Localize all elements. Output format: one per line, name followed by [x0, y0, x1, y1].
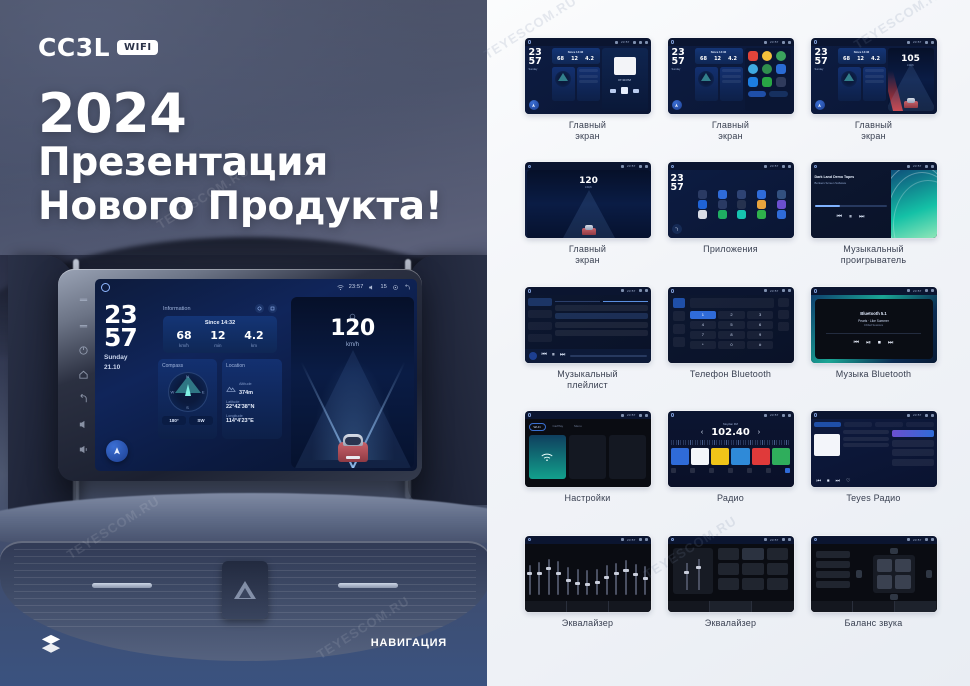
player-artist: Bonkers Screen Software [815, 181, 887, 185]
app-icon[interactable] [752, 200, 771, 209]
eq-bottom-tabs[interactable] [668, 601, 794, 612]
prev-icon[interactable]: ⏮ [854, 340, 859, 347]
compass-dial: N S W E [168, 372, 208, 412]
altitude-row: Altitude 374m [226, 372, 278, 396]
layers-icon [40, 633, 62, 653]
eq-slider[interactable] [596, 569, 598, 595]
eq-slider[interactable] [635, 564, 637, 595]
tile-caption: Телефон Bluetooth [690, 369, 771, 380]
trip-stat: 4.2 km [244, 330, 264, 348]
app-icon[interactable] [772, 200, 791, 209]
eq-tab[interactable] [895, 601, 936, 612]
trip-stat-value: 4.2 [244, 330, 264, 341]
radio-preset[interactable] [772, 448, 790, 465]
trip-since: Since 14:32 [167, 320, 273, 326]
tile-caption: Главный экран [569, 244, 606, 266]
eq-tab[interactable] [853, 601, 895, 612]
mini-home-screen: 23 57 Sunday Since 14:32 68124.2 [525, 46, 651, 114]
eq-preset[interactable] [767, 548, 789, 560]
eq-tab[interactable] [811, 601, 853, 612]
speed-value: 120 [291, 318, 414, 340]
eq-slider[interactable] [644, 566, 646, 595]
mini-stat: 4.2 [871, 56, 880, 62]
tile-preview[interactable]: 23:57 23 57 Sunday Since 14:32 68124.2 [525, 162, 651, 238]
head-unit-hardware-keys[interactable] [70, 289, 96, 461]
hazard-light-button[interactable] [222, 561, 268, 619]
mini-clock-day: Sunday [529, 68, 550, 71]
stop-icon[interactable]: ⏹ [878, 340, 881, 347]
playlist-row[interactable] [555, 305, 648, 311]
navigation-fab-button[interactable] [106, 440, 128, 462]
tile-caption: Главный экран [569, 120, 606, 142]
mini-settings-screen: Wi-Fi CarPlay Menu [525, 419, 651, 487]
eq-preset[interactable] [767, 563, 789, 575]
clock-date: 21.10 [104, 364, 160, 373]
tile-caption: Главный экран [855, 120, 892, 142]
compass-south: S [186, 405, 189, 410]
tile-teyes-radio[interactable]: 23:57 [807, 411, 940, 535]
vent-chrome-left [92, 583, 152, 588]
play-pause-icon[interactable]: ⏯ [866, 340, 871, 347]
mini-teyes-radio-screen: ⏮ ⏹ ⏭ ♡ [811, 419, 937, 487]
station-row[interactable] [892, 459, 934, 466]
power-key[interactable] [78, 345, 89, 356]
favorite-icon[interactable]: ♡ [846, 478, 850, 484]
navigation-arrow-icon [112, 446, 122, 456]
app-icon[interactable] [694, 200, 713, 209]
eq-preset[interactable] [742, 578, 764, 590]
logo-wifi-badge: WIFI [117, 40, 158, 55]
speaker-icon [877, 575, 893, 589]
compass-north: N [186, 374, 189, 379]
app-icon[interactable] [733, 190, 752, 199]
eq-bottom-tabs[interactable] [525, 601, 651, 612]
mini-home-screen: 23 57 Sunday Since 14:32 68124.2 [811, 46, 937, 114]
eq-slider[interactable] [557, 561, 559, 595]
eq-tab[interactable] [668, 601, 710, 612]
tile-caption: Эквалайзер [705, 618, 756, 629]
stop-icon[interactable]: ⏹ [827, 478, 830, 484]
dial-key[interactable]: # [747, 341, 774, 349]
prev-icon[interactable]: ⏮ [817, 478, 822, 484]
mini-dialer-screen: 1 2 3 4 5 6 7 8 9 * 0 # [668, 295, 794, 363]
balance-left-button[interactable] [856, 570, 862, 578]
eq-slider[interactable] [538, 562, 540, 595]
tile-caption: Эквалайзер [562, 618, 613, 629]
tile-sound-balance[interactable]: 23:57 [807, 536, 940, 660]
balance-option[interactable] [816, 551, 850, 558]
mini-compass-card [552, 67, 575, 101]
mini-stat: 12 [571, 56, 578, 62]
tile-caption: Музыка Bluetooth [836, 369, 912, 380]
settings-card-carplay[interactable] [569, 435, 606, 479]
hero-footer: НАВИГАЦИЯ [0, 630, 487, 656]
location-title: Location [226, 363, 278, 369]
settings-tab[interactable]: CarPlay [549, 423, 568, 431]
mini-clock-minutes: 57 [671, 183, 692, 192]
mini-stat: 68 [843, 56, 850, 62]
mini-speed-unit: km/h [527, 186, 651, 189]
refresh-icon[interactable] [255, 304, 264, 313]
tile-status-bar: 23:57 [525, 38, 651, 46]
trip-stat-value: 12 [210, 330, 225, 341]
tile-home-screen-apps[interactable]: 23:57 23 57 Sunday Since 14:32 68124.2 [664, 38, 797, 162]
playlist-player-bar[interactable]: ⏮ ⏸ ⏭ [525, 349, 651, 363]
eq-preset[interactable] [718, 548, 740, 560]
compass-title: Compass [162, 363, 213, 369]
tile-home-screen-speed[interactable]: 23:57 23 57 Sunday Since 14:32 68124.2 [807, 38, 940, 162]
eq-slider[interactable] [567, 567, 569, 595]
station-row[interactable] [892, 430, 934, 437]
mini-shortcut-panel [745, 48, 791, 111]
volume-icon [368, 284, 375, 291]
radio-preset[interactable] [752, 448, 770, 465]
expand-icon[interactable] [268, 304, 277, 313]
eq-slider[interactable] [529, 565, 531, 594]
clock-day: Sunday [104, 354, 160, 363]
radio-frequency: 102.40 [711, 427, 750, 438]
vent-chrome-right [338, 583, 398, 588]
tile-caption: Главный экран [712, 120, 749, 142]
tile-equalizer-bars[interactable]: 23:57 [521, 536, 654, 660]
mini-speed-value: 120 [579, 176, 598, 186]
eq-slider[interactable] [577, 569, 579, 594]
radio-band: Moydan FM [671, 422, 791, 426]
eq-preset[interactable] [718, 578, 740, 590]
dial-key[interactable]: 0 [718, 341, 745, 349]
settings-tab[interactable]: Menu [570, 423, 586, 431]
mini-speed: 105km/h [888, 54, 934, 67]
tile-home-screen-nav[interactable]: 23:57 23 57 Sunday Since 14:32 68124.2 [521, 162, 654, 286]
compass-east: E [202, 390, 205, 395]
trip-stat: 12 min [210, 330, 225, 348]
trip-stat-unit: km [244, 343, 264, 348]
dial-key[interactable]: 3 [747, 311, 774, 319]
eq-slider[interactable] [625, 560, 627, 594]
headline-line-1: Презентация [38, 141, 442, 185]
tile-preview[interactable]: 23:57 [668, 536, 794, 612]
status-bar: 23:57 15 [95, 279, 417, 295]
tile-home-screen-media[interactable]: 23:57 23 57 Sunday Since 14:32 6812 [521, 38, 654, 162]
pause-icon[interactable]: ⏸ [849, 214, 852, 221]
tile-equalizer-presets[interactable]: 23:57 [664, 536, 797, 660]
balance-down-button[interactable] [890, 594, 898, 600]
home-circle-icon[interactable] [101, 283, 110, 292]
balance-option[interactable] [816, 581, 850, 588]
teyes-tab[interactable] [814, 422, 842, 427]
information-title: Information [163, 306, 191, 312]
eq-tab[interactable] [525, 601, 567, 612]
volume-down-key[interactable] [78, 419, 89, 430]
mini-stat: 4.2 [585, 56, 594, 62]
dial-key[interactable]: 7 [690, 331, 717, 339]
mini-since: Since 14:32 [554, 50, 598, 54]
playlist-nav-item[interactable] [528, 298, 552, 306]
prev-track-key[interactable] [78, 295, 89, 306]
mini-info-column: Since 14:32 68124.2 [552, 48, 600, 111]
speed-limit-icon [349, 307, 356, 314]
balance-right-button[interactable] [926, 570, 932, 578]
compass-heading: 180° [162, 416, 186, 425]
app-icon[interactable] [694, 190, 713, 199]
eq-tab[interactable] [609, 601, 650, 612]
home-circle-icon [528, 40, 532, 44]
compass-widget[interactable]: Compass N S W E [158, 359, 217, 439]
next-icon[interactable]: ⏭ [888, 340, 893, 347]
compass-direction: SW [189, 416, 213, 425]
radio-prev-icon[interactable]: ‹ [701, 429, 703, 436]
tile-caption: Настройки [565, 493, 611, 504]
app-icon[interactable] [733, 210, 752, 219]
dial-key[interactable]: 2 [718, 311, 745, 319]
headline-year: 2024 [38, 86, 442, 141]
app-icon[interactable] [713, 190, 732, 199]
dialer-nav-recents[interactable] [673, 337, 685, 347]
player-track-title: Dark Land Demo Tapes [815, 175, 887, 179]
teyes-tab[interactable] [906, 422, 934, 427]
screen-body: 23 57 Sunday 21.10 Information [95, 295, 417, 471]
app-icon[interactable] [752, 190, 771, 199]
head-unit-screen[interactable]: 23:57 15 23 57 Sunday [95, 279, 417, 471]
mountain-icon [226, 380, 236, 389]
radio-preset[interactable] [691, 448, 709, 465]
dial-key[interactable]: 1 [690, 311, 717, 319]
eq-slider[interactable] [548, 559, 550, 594]
mini-media-panel: 07:30 PM [602, 48, 648, 111]
speed-unit: km/h [291, 342, 414, 348]
playlist-row[interactable] [555, 322, 648, 328]
settings-tab[interactable]: Wi-Fi [529, 423, 546, 431]
speaker-icon [877, 559, 893, 573]
presentation-slide: CC3L WIFI 2024 Презентация Нового Продук… [0, 0, 970, 686]
eq-tab[interactable] [710, 601, 752, 612]
next-track-key[interactable] [78, 320, 89, 331]
mini-location-card [577, 67, 600, 101]
eq-slider[interactable] [606, 565, 608, 594]
back-arrow-icon[interactable] [404, 284, 411, 291]
mini-since: Since 14:32 [840, 50, 884, 54]
tile-music-playlist[interactable]: 23:57 [521, 287, 654, 411]
tile-bluetooth-music[interactable]: 23:57 Bluetooth 5.1 Pearls · Like Summer… [807, 287, 940, 411]
app-icon[interactable] [752, 210, 771, 219]
mini-driving-panel: 105km/h [888, 48, 934, 111]
mini-stat: 12 [714, 56, 721, 62]
mini-clock: 23 57 Sunday [529, 48, 550, 111]
eq-preset[interactable] [742, 563, 764, 575]
altitude-value: 374m [239, 390, 253, 396]
station-row[interactable] [892, 440, 934, 447]
station-row[interactable] [892, 449, 934, 456]
tile-preview[interactable]: 23:57 23 57 [668, 162, 794, 238]
tile-preview[interactable]: 23:57 1 2 3 [668, 287, 794, 363]
tile-preview[interactable]: 23:57 23 57 Sunday Since 14:32 6812 [525, 38, 651, 114]
status-volume: 15 [380, 284, 387, 290]
clock-widget[interactable]: 23 57 Sunday 21.10 [104, 303, 160, 373]
dialer-nav-search[interactable] [673, 324, 685, 334]
tile-preview[interactable]: 23:57 Wi-Fi CarPlay Menu [525, 411, 651, 487]
eq-preset[interactable] [718, 563, 740, 575]
app-icon[interactable] [733, 200, 752, 209]
back-key[interactable] [78, 394, 89, 405]
mini-home-screen: 23 57 Sunday Since 14:32 68124.2 [525, 170, 651, 238]
mini-clock-minutes: 57 [815, 57, 836, 66]
tile-preview[interactable]: 23:57 [811, 536, 937, 612]
altitude-label: Altitude [239, 382, 252, 386]
mini-stat: 68 [700, 56, 707, 62]
car-dashboard-illustration: 23:57 15 23 57 Sunday [0, 255, 487, 686]
mini-radio-screen: Moydan FM ‹ 102.40 › [668, 419, 794, 487]
next-icon[interactable]: ⏭ [836, 478, 841, 484]
clock-minutes: 57 [104, 326, 160, 349]
app-icon[interactable] [772, 190, 791, 199]
screenshots-grid: 23:57 23 57 Sunday Since 14:32 6812 [521, 38, 940, 660]
head-unit-bezel: 23:57 15 23 57 Sunday [58, 269, 422, 481]
eq-slider[interactable] [586, 570, 588, 594]
balance-option[interactable] [816, 561, 850, 568]
tile-preview[interactable]: 23:57 Dark Land Demo Tapes Bonkers Scree… [811, 162, 937, 238]
teyes-tab[interactable] [875, 422, 903, 427]
screen-left-column: 23 57 Sunday 21.10 Information [95, 295, 291, 471]
radio-preset[interactable] [711, 448, 729, 465]
playlist-nav-item[interactable] [528, 334, 552, 342]
tile-caption: Teyes Радио [846, 493, 900, 504]
volume-up-key[interactable] [78, 444, 89, 455]
settings-card-wifi[interactable] [529, 435, 566, 479]
information-title-row: Information [163, 304, 277, 313]
mini-speed: 120km/h [527, 176, 651, 189]
longitude-value: 114°4'23"E [226, 418, 278, 424]
mini-bt-music-screen: Bluetooth 5.1 Pearls · Like Summer Chill… [811, 295, 937, 363]
tile-caption: Музыкальный плейлист [557, 369, 617, 391]
dial-key[interactable]: * [690, 341, 717, 349]
radio-next-icon[interactable]: › [758, 429, 760, 436]
mini-stat: 12 [857, 56, 864, 62]
eq-slider[interactable] [698, 559, 700, 589]
mini-clock-day: Sunday [815, 68, 836, 71]
mini-clock-minutes: 57 [672, 57, 693, 66]
eq-slider[interactable] [686, 563, 688, 590]
tile-radio[interactable]: 23:57 Moydan FM ‹ 102.40 › [664, 411, 797, 535]
location-widget[interactable]: Location Altitude 374m Latitude [222, 359, 282, 439]
app-icon[interactable] [713, 210, 732, 219]
trip-stats: 68 km/h 12 min 4.2 [167, 330, 273, 348]
trip-stat-value: 68 [176, 330, 191, 341]
tile-preview[interactable]: 23:57 23 57 Sunday Since 14:32 68124.2 [668, 38, 794, 114]
tile-preview[interactable]: 23:57 Moydan FM ‹ 102.40 › [668, 411, 794, 487]
bt-track-title: Pearls · Like Summer [858, 319, 889, 323]
eq-slider[interactable] [615, 563, 617, 595]
tile-caption: Радио [717, 493, 744, 504]
favorite-star-icon[interactable] [778, 298, 789, 307]
mini-clock-minutes: 57 [529, 57, 550, 66]
balance-option[interactable] [816, 571, 850, 578]
wifi-icon [337, 284, 344, 291]
dial-key[interactable]: 4 [690, 321, 717, 329]
dialer-nav-contacts[interactable] [673, 311, 685, 321]
tile-preview[interactable]: 23:57 [811, 411, 937, 487]
home-key[interactable] [78, 369, 89, 380]
mini-speed-unit: km/h [888, 64, 934, 67]
compass-needle [185, 384, 191, 396]
app-icon-grid[interactable] [692, 172, 791, 236]
bt-artist: Chilled Sessions [864, 324, 883, 327]
dial-key[interactable]: 8 [718, 331, 745, 339]
station-artwork [814, 434, 840, 456]
mini-player-screen: Dark Land Demo Tapes Bonkers Screen Soft… [811, 170, 937, 238]
app-icon[interactable] [772, 210, 791, 219]
bt-version-label: Bluetooth 5.1 [860, 311, 887, 316]
dialer-nav-keypad[interactable] [673, 298, 685, 308]
call-icon[interactable] [778, 322, 789, 331]
tile-caption: Музыкальный проигрыватель [841, 244, 906, 266]
speaker-icon [895, 575, 911, 589]
mini-driving-panel: 120km/h [527, 170, 651, 238]
settings-gear-icon[interactable] [392, 284, 399, 291]
tile-settings[interactable]: 23:57 Wi-Fi CarPlay Menu [521, 411, 654, 535]
next-icon[interactable]: ⏭ [859, 214, 864, 221]
tile-bluetooth-phone[interactable]: 23:57 1 2 3 [664, 287, 797, 411]
trip-panel: Since 14:32 68 km/h 12 min [163, 316, 277, 353]
tile-preview[interactable]: 23:57 23 57 Sunday Since 14:32 68124.2 [811, 38, 937, 114]
playlist-row[interactable] [555, 313, 648, 319]
wifi-icon [541, 453, 553, 462]
headline-line-2: Нового Продукта! [38, 185, 442, 229]
radio-preset[interactable] [731, 448, 749, 465]
tile-preview[interactable]: 23:57 [525, 287, 651, 363]
tile-caption: Баланс звука [845, 618, 903, 629]
speed-readout: 120 km/h [291, 307, 414, 348]
hero-panel: CC3L WIFI 2024 Презентация Нового Продук… [0, 0, 487, 686]
information-widget[interactable]: Information Since 14:32 [158, 300, 282, 358]
playlist-nav-item[interactable] [528, 310, 552, 318]
app-icon[interactable] [694, 210, 713, 219]
mini-home-screen: 23 57 Sunday Since 14:32 68124.2 [668, 46, 794, 114]
balance-up-button[interactable] [890, 548, 898, 554]
playlist-nav-item[interactable] [528, 322, 552, 330]
settings-card-menu[interactable] [609, 435, 646, 479]
eq-preset[interactable] [742, 548, 764, 560]
tile-preview[interactable]: 23:57 Bluetooth 5.1 Pearls · Like Summer… [811, 287, 937, 363]
mini-nav-fab [529, 100, 539, 110]
radio-preset[interactable] [671, 448, 689, 465]
app-icon[interactable] [713, 200, 732, 209]
speaker-icon [895, 559, 911, 573]
backspace-icon[interactable] [778, 310, 789, 319]
dial-key[interactable]: 5 [718, 321, 745, 329]
bottom-widgets: Compass N S W E [158, 359, 282, 439]
eq-tab[interactable] [567, 601, 609, 612]
product-logo: CC3L WIFI [38, 33, 158, 62]
eq-tab[interactable] [752, 601, 793, 612]
tile-preview[interactable]: 23:57 [525, 536, 651, 612]
hazard-triangle-icon [234, 581, 256, 599]
dial-key[interactable]: 6 [747, 321, 774, 329]
dial-key[interactable]: 9 [747, 331, 774, 339]
trip-stat-unit: min [210, 343, 225, 348]
eq-preset[interactable] [767, 578, 789, 590]
tile-applications[interactable]: 23:57 23 57 [664, 162, 797, 286]
mini-stat: 68 [557, 56, 564, 62]
teyes-tab[interactable] [844, 422, 872, 427]
driving-view-panel[interactable]: 120 km/h [291, 297, 414, 468]
playlist-row[interactable] [555, 330, 648, 336]
eq-bottom-tabs[interactable] [811, 601, 937, 612]
mini-apps-screen: 23 57 [668, 170, 794, 238]
screenshots-panel: 23:57 23 57 Sunday Since 14:32 6812 [487, 0, 970, 686]
tile-music-player[interactable]: 23:57 Dark Land Demo Tapes Bonkers Scree… [807, 162, 940, 286]
mini-clock-day: Sunday [672, 68, 693, 71]
prev-icon[interactable]: ⏮ [837, 214, 842, 221]
